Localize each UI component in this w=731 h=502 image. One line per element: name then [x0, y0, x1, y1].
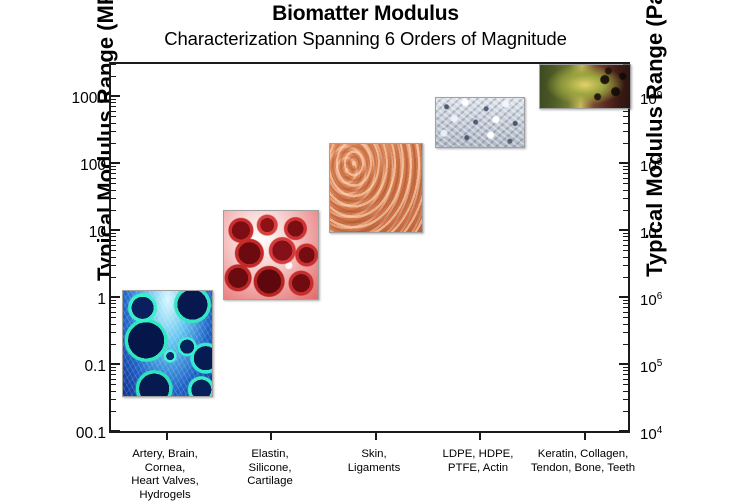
y-minor-tick-left	[111, 166, 116, 167]
x-axis-tick-4	[479, 431, 481, 440]
y-tick-right-1e6: 106	[640, 292, 700, 308]
x-category-label-5: Keratin, Collagen, Tendon, Bone, Teeth	[518, 448, 648, 475]
y-minor-tick-right	[623, 245, 628, 246]
x-axis-tick-1	[166, 431, 168, 440]
y-minor-tick-right	[623, 210, 628, 211]
texture-keratin	[540, 65, 630, 108]
y-minor-tick-right	[623, 332, 628, 333]
y-minor-tick-right	[623, 236, 628, 237]
y-minor-tick-right	[623, 111, 628, 112]
y-minor-tick-left	[111, 300, 116, 301]
y-minor-tick-right	[623, 312, 628, 313]
y-tick-label-100: 100	[40, 158, 106, 174]
y-minor-tick-right	[623, 277, 628, 278]
y-minor-tick-left	[111, 411, 116, 412]
y-major-tick-left-00.1	[111, 430, 120, 432]
y-minor-tick-right	[623, 166, 628, 167]
y-minor-tick-right	[623, 303, 628, 304]
y-minor-tick-left	[111, 116, 116, 117]
y-minor-tick-right	[623, 257, 628, 258]
y-major-tick-right-100	[619, 162, 628, 164]
y-minor-tick-left	[111, 169, 116, 170]
y-minor-tick-right	[623, 384, 628, 385]
y-major-tick-left-100	[111, 162, 120, 164]
y-minor-tick-left	[111, 324, 116, 325]
y-minor-tick-right	[623, 169, 628, 170]
y-tick-label-10: 10	[40, 225, 106, 241]
y-tick-right-1e9: 109	[640, 91, 700, 107]
material-block-skin-ligaments	[329, 143, 423, 233]
y-tick-label-0.1: 0.1	[40, 359, 106, 375]
plot-area	[109, 62, 630, 433]
y-minor-tick-left	[111, 265, 116, 266]
y-minor-tick-right	[623, 370, 628, 371]
y-minor-tick-right	[623, 240, 628, 241]
y-minor-tick-left	[111, 277, 116, 278]
y-minor-tick-left	[111, 245, 116, 246]
y-tick-label-1000: 1000	[40, 91, 106, 107]
y-minor-tick-right	[623, 233, 628, 234]
material-block-keratin-bone-teeth	[539, 64, 631, 109]
y-minor-tick-left	[111, 332, 116, 333]
y-minor-tick-right	[623, 300, 628, 301]
y-major-tick-right-00.1	[619, 430, 628, 432]
y-minor-tick-right	[623, 399, 628, 400]
y-minor-tick-right	[623, 183, 628, 184]
y-minor-tick-left	[111, 190, 116, 191]
y-minor-tick-right	[623, 317, 628, 318]
y-minor-tick-left	[111, 312, 116, 313]
y-minor-tick-right	[623, 307, 628, 308]
y-major-tick-left-10	[111, 229, 120, 231]
y-minor-tick-left	[111, 240, 116, 241]
y-minor-tick-left	[111, 178, 116, 179]
y-minor-tick-left	[111, 99, 116, 100]
y-minor-tick-left	[111, 198, 116, 199]
y-minor-tick-left	[111, 111, 116, 112]
y-minor-tick-right	[623, 198, 628, 199]
material-block-polymers-actin	[435, 97, 525, 148]
y-minor-tick-left	[111, 379, 116, 380]
y-minor-tick-left	[111, 384, 116, 385]
y-minor-tick-left	[111, 76, 116, 77]
y-minor-tick-left	[111, 64, 116, 65]
y-minor-tick-left	[111, 233, 116, 234]
material-block-elastin-cartilage	[223, 210, 319, 300]
y-tick-label-0.01: 00.1	[40, 426, 106, 442]
y-minor-tick-left	[111, 317, 116, 318]
y-minor-tick-right	[623, 374, 628, 375]
y-tick-right-1e7: 107	[640, 225, 700, 241]
y-minor-tick-left	[111, 370, 116, 371]
y-tick-label-1: 1	[40, 292, 106, 308]
y-minor-tick-right	[623, 411, 628, 412]
y-major-tick-left-1000	[111, 95, 120, 97]
y-minor-tick-right	[623, 324, 628, 325]
y-minor-tick-right	[623, 173, 628, 174]
y-minor-tick-right	[623, 178, 628, 179]
y-major-tick-left-1	[111, 296, 120, 298]
y-tick-right-1e5: 105	[640, 359, 700, 375]
y-major-tick-left-0.1	[111, 363, 120, 365]
y-minor-tick-left	[111, 307, 116, 308]
y-minor-tick-left	[111, 183, 116, 184]
y-minor-tick-right	[623, 190, 628, 191]
y-major-tick-right-1	[619, 296, 628, 298]
y-minor-tick-left	[111, 102, 116, 103]
y-minor-tick-right	[623, 143, 628, 144]
y-minor-tick-left	[111, 236, 116, 237]
y-minor-tick-left	[111, 367, 116, 368]
y-minor-tick-left	[111, 173, 116, 174]
y-minor-tick-left	[111, 250, 116, 251]
texture-skin	[330, 144, 422, 232]
texture-hydrogel	[123, 291, 212, 396]
y-major-tick-right-10	[619, 229, 628, 231]
x-axis-tick-2	[270, 431, 272, 440]
texture-granite	[436, 98, 524, 147]
texture-cartilage	[224, 211, 318, 299]
y-minor-tick-left	[111, 210, 116, 211]
y-minor-tick-right	[623, 344, 628, 345]
y-minor-tick-left	[111, 257, 116, 258]
y-tick-right-1e8: 108	[640, 158, 700, 174]
x-axis-tick-5	[584, 431, 586, 440]
x-axis-tick-3	[375, 431, 377, 440]
y-minor-tick-right	[623, 250, 628, 251]
y-minor-tick-right	[623, 265, 628, 266]
y-minor-tick-right	[623, 391, 628, 392]
y-minor-tick-right	[623, 131, 628, 132]
y-tick-right-1e4: 104	[640, 426, 700, 442]
chart-root: Biomatter Modulus Characterization Spann…	[0, 0, 731, 499]
y-minor-tick-right	[623, 123, 628, 124]
y-minor-tick-left	[111, 131, 116, 132]
y-minor-tick-left	[111, 344, 116, 345]
y-major-tick-right-0.1	[619, 363, 628, 365]
y-minor-tick-right	[623, 367, 628, 368]
y-minor-tick-left	[111, 399, 116, 400]
y-minor-tick-left	[111, 123, 116, 124]
y-minor-tick-left	[111, 106, 116, 107]
material-block-soft-tissue-hydrogel	[122, 290, 213, 397]
y-minor-tick-right	[623, 379, 628, 380]
y-minor-tick-left	[111, 391, 116, 392]
y-minor-tick-left	[111, 374, 116, 375]
y-minor-tick-left	[111, 143, 116, 144]
y-minor-tick-right	[623, 116, 628, 117]
y-minor-tick-left	[111, 303, 116, 304]
